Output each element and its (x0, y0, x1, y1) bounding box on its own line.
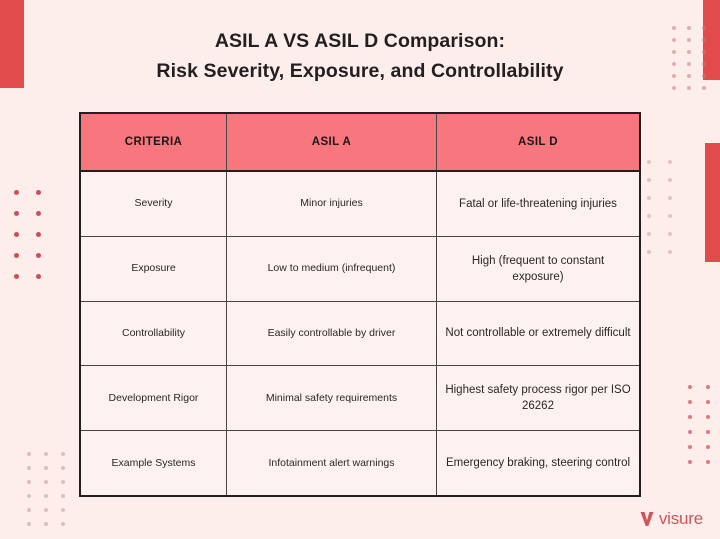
brand-logo: visure (640, 510, 703, 527)
table-row: Exposure Low to medium (infrequent) High… (81, 237, 639, 302)
dot (688, 445, 692, 449)
comparison-table: CRITERIA ASIL A ASIL D Severity Minor in… (79, 112, 641, 497)
dot (44, 508, 48, 512)
dot (61, 452, 65, 456)
dot (44, 452, 48, 456)
dot (647, 250, 651, 254)
cell-criteria: Exposure (81, 237, 227, 301)
cell-criteria: Example Systems (81, 431, 227, 495)
cell-asil-a: Low to medium (infrequent) (227, 237, 437, 301)
dot (61, 466, 65, 470)
dot (688, 460, 692, 464)
table-header-criteria: CRITERIA (81, 114, 227, 170)
decor-dots-middle-right (647, 160, 672, 254)
dot (706, 430, 710, 434)
decor-dots-bottom-right (688, 385, 720, 464)
dot (647, 196, 651, 200)
dot (688, 415, 692, 419)
dot (668, 250, 672, 254)
dot (687, 86, 691, 90)
dot (706, 445, 710, 449)
cell-asil-a: Minimal safety requirements (227, 366, 437, 430)
cell-asil-d: Fatal or life-threatening injuries (437, 172, 639, 236)
dot (27, 494, 31, 498)
dot (668, 160, 672, 164)
brand-logo-text: visure (659, 510, 703, 527)
dot (36, 211, 41, 216)
dot (36, 232, 41, 237)
dot (647, 232, 651, 236)
dot (706, 385, 710, 389)
table-row: Example Systems Infotainment alert warni… (81, 431, 639, 495)
table-row: Development Rigor Minimal safety require… (81, 366, 639, 431)
dot (672, 86, 676, 90)
page-title-line-2: Risk Severity, Exposure, and Controllabi… (0, 56, 720, 86)
v-mark-icon (640, 511, 654, 527)
dot (647, 214, 651, 218)
page-title-line-1: ASIL A VS ASIL D Comparison: (0, 26, 720, 56)
dot (27, 480, 31, 484)
dot (44, 480, 48, 484)
cell-asil-d: Highest safety process rigor per ISO 262… (437, 366, 639, 430)
cell-asil-a: Easily controllable by driver (227, 302, 437, 366)
dot (647, 160, 651, 164)
dot (668, 196, 672, 200)
dot (706, 460, 710, 464)
dot (706, 415, 710, 419)
dot (61, 494, 65, 498)
table-header-asil-a: ASIL A (227, 114, 437, 170)
dot (706, 400, 710, 404)
cell-asil-d: High (frequent to constant exposure) (437, 237, 639, 301)
dot (688, 385, 692, 389)
dot (61, 522, 65, 526)
dot (702, 86, 706, 90)
cell-asil-d: Not controllable or extremely difficult (437, 302, 639, 366)
dot (647, 178, 651, 182)
dot (14, 211, 19, 216)
dot (36, 274, 41, 279)
cell-criteria: Controllability (81, 302, 227, 366)
cell-asil-a: Minor injuries (227, 172, 437, 236)
dot (36, 253, 41, 258)
decor-dots-middle-left (14, 190, 41, 279)
dot (668, 232, 672, 236)
cell-criteria: Development Rigor (81, 366, 227, 430)
decor-bar-middle-right (705, 143, 720, 262)
dot (27, 466, 31, 470)
table-row: Severity Minor injuries Fatal or life-th… (81, 172, 639, 237)
dot (688, 430, 692, 434)
dot (14, 253, 19, 258)
cell-criteria: Severity (81, 172, 227, 236)
page-title: ASIL A VS ASIL D Comparison: Risk Severi… (0, 26, 720, 86)
dot (44, 466, 48, 470)
dot (14, 232, 19, 237)
dot (36, 190, 41, 195)
dot (44, 522, 48, 526)
table-header-row: CRITERIA ASIL A ASIL D (81, 114, 639, 172)
cell-asil-a: Infotainment alert warnings (227, 431, 437, 495)
cell-asil-d: Emergency braking, steering control (437, 431, 639, 495)
dot (14, 274, 19, 279)
dot (14, 190, 19, 195)
dot (668, 214, 672, 218)
dot (61, 480, 65, 484)
dot (668, 178, 672, 182)
dot (27, 508, 31, 512)
table-header-asil-d: ASIL D (437, 114, 639, 170)
dot (27, 452, 31, 456)
dot (61, 508, 65, 512)
dot (688, 400, 692, 404)
table-row: Controllability Easily controllable by d… (81, 302, 639, 367)
decor-dots-bottom-left (27, 452, 65, 526)
dot (27, 522, 31, 526)
dot (44, 494, 48, 498)
